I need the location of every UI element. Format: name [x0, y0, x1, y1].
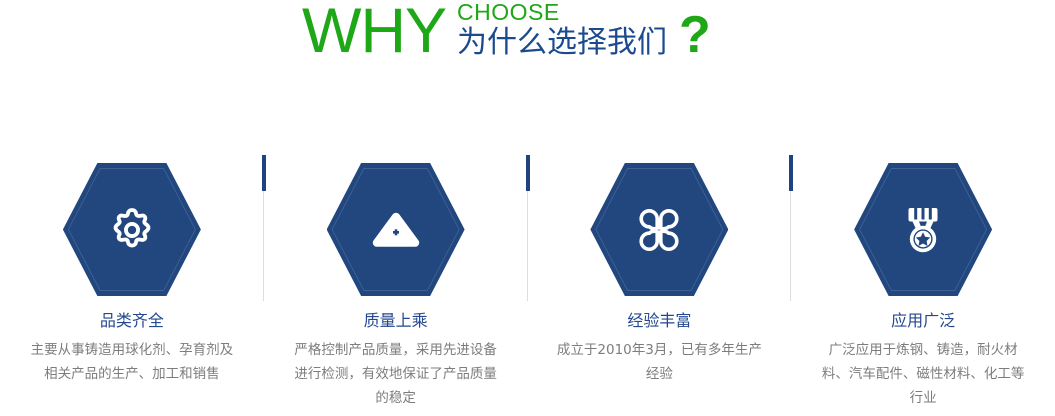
feature-column-2: 质量上乘 严格控制产品质量，采用先进设备进行检测，有效地保证了产品质量的稳定 — [264, 150, 528, 416]
card-title: 质量上乘 — [364, 311, 428, 331]
heading-mid-block: CHOOSE 为什么选择我们 — [457, 0, 667, 63]
card-body: 主要从事铸造用球化剂、孕育剂及相关产品的生产、加工和销售 — [25, 338, 239, 386]
section-heading: WHY CHOOSE 为什么选择我们 ? — [0, 0, 1055, 100]
hexagon-badge-3 — [590, 163, 728, 296]
hexagon-badge-4 — [854, 163, 992, 296]
card-title: 应用广泛 — [891, 311, 955, 331]
feature-columns: 品类齐全 主要从事铸造用球化剂、孕育剂及相关产品的生产、加工和销售 — [0, 150, 1055, 416]
heading-inner: WHY CHOOSE 为什么选择我们 ? — [302, 0, 711, 63]
hexagon-badge-2 — [327, 163, 465, 296]
triangle-plus-icon — [327, 163, 465, 296]
hexagon-badge-1 — [63, 163, 201, 296]
heading-question-mark: ? — [679, 9, 711, 63]
feature-column-3: 经验丰富 成立于2010年3月，已有多年生产经验 — [528, 150, 792, 416]
heading-why: WHY — [302, 0, 446, 63]
card-body: 成立于2010年3月，已有多年生产经验 — [552, 338, 766, 386]
heading-choose: CHOOSE — [457, 0, 667, 25]
card-title: 经验丰富 — [627, 311, 691, 331]
heading-chinese-title: 为什么选择我们 — [457, 27, 667, 59]
card-title: 品类齐全 — [100, 311, 164, 331]
gear-icon — [63, 163, 201, 296]
medal-icon — [854, 163, 992, 296]
feature-column-4: 应用广泛 广泛应用于炼钢、铸造，耐火材料、汽车配件、磁性材料、化工等行业 — [791, 150, 1055, 416]
four-petal-clover-icon — [590, 163, 728, 296]
feature-column-1: 品类齐全 主要从事铸造用球化剂、孕育剂及相关产品的生产、加工和销售 — [0, 150, 264, 416]
card-body: 严格控制产品质量，采用先进设备进行检测，有效地保证了产品质量的稳定 — [289, 338, 503, 410]
card-body: 广泛应用于炼钢、铸造，耐火材料、汽车配件、磁性材料、化工等行业 — [816, 338, 1030, 410]
